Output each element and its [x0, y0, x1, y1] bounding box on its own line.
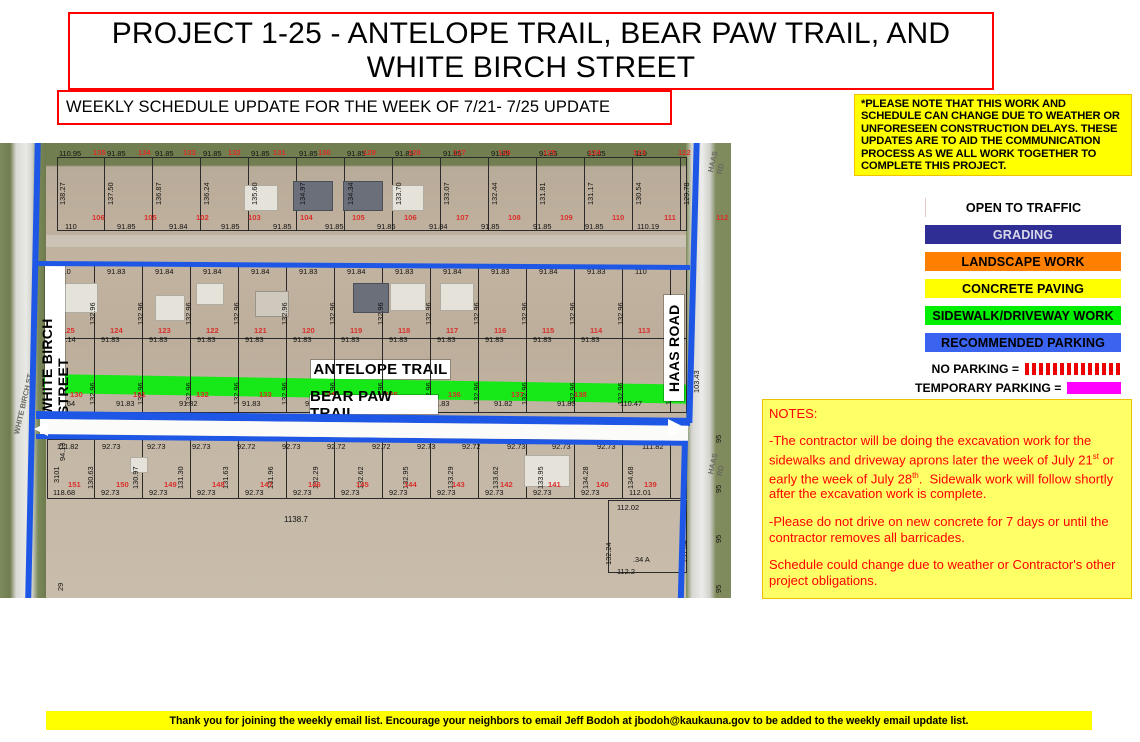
- lot-width-dimension: 91.83: [149, 335, 168, 344]
- lot-width-dimension: 92.72: [237, 442, 256, 451]
- east-tick-95-a: 95: [714, 435, 723, 443]
- lot-width-dimension: 92.73: [581, 488, 600, 497]
- lot-depth-dimension: 130.54: [634, 182, 643, 205]
- lot-width-dimension: 91.85: [481, 222, 500, 231]
- east-tick-95-d: 95: [714, 585, 723, 593]
- lot-depth-dimension: 132.96: [232, 302, 241, 325]
- lot-number: 102: [196, 213, 209, 222]
- outlot-area-label: .34 A: [633, 555, 650, 564]
- lot-number: 121: [254, 326, 267, 335]
- lot-depth-dimension: 132.96: [472, 382, 481, 405]
- legend-item-open-to-traffic: OPEN TO TRAFFIC: [925, 198, 1121, 217]
- legend-item-concrete-paving: CONCRETE PAVING: [925, 279, 1121, 298]
- lot-width-dimension: 91.83: [389, 335, 408, 344]
- legend-item-no-parking: NO PARKING =: [915, 360, 1121, 377]
- lot-depth-dimension: 133.95: [536, 466, 545, 489]
- lot-number: 126: [498, 148, 511, 157]
- lot-width-dimension: 110.19: [637, 222, 659, 231]
- lot-number: 116: [494, 326, 506, 335]
- project-title-text: PROJECT 1-25 - ANTELOPE TRAIL, BEAR PAW …: [112, 17, 951, 84]
- project-title-line2: WHITE BIRCH STREET: [367, 51, 696, 84]
- lot-number: 107: [456, 213, 469, 222]
- lot-number: 130: [70, 390, 83, 399]
- lot-depth-dimension: 134.68: [626, 466, 635, 489]
- lot-width-dimension: 91.85: [273, 222, 292, 231]
- lot-width-dimension: 91.85: [155, 149, 174, 158]
- legend-item-grading: GRADING: [925, 225, 1121, 244]
- lot-width-dimension: 92.72: [327, 442, 346, 451]
- legend-label-landscape-work: LANDSCAPE WORK: [961, 255, 1084, 269]
- lot-width-dimension: 91.85: [203, 149, 222, 158]
- lot-depth-dimension: 133.62: [491, 466, 500, 489]
- lot-number: 111: [664, 213, 676, 222]
- outlot-dim-top: 112.02: [617, 503, 639, 512]
- lot-width-dimension: 92.73: [282, 442, 301, 451]
- lot-width-dimension: 91.85: [585, 222, 604, 231]
- lot-number: 115: [542, 326, 554, 335]
- note-item-schedule: Schedule could change due to weather or …: [769, 557, 1123, 588]
- legend-item-sidewalk-driveway-work: SIDEWALK/DRIVEWAY WORK: [925, 306, 1121, 325]
- legend-item-recommended-parking: RECOMMENDED PARKING: [925, 333, 1121, 352]
- lot-width-dimension: 91.83: [107, 267, 126, 276]
- lot-width-dimension: 92.73: [245, 488, 264, 497]
- lot-depth-dimension: 132.96: [232, 382, 241, 405]
- lot-depth-dimension: 137.50: [106, 182, 115, 205]
- lot-number: 132: [196, 390, 209, 399]
- lot-width-dimension: 91.83: [437, 335, 456, 344]
- lot-width-dimension: 91.83: [245, 335, 264, 344]
- lot-number: 103: [248, 213, 261, 222]
- east-field-area: [716, 143, 731, 598]
- west-dim-3101: 3101: [52, 467, 61, 483]
- lot-depth-dimension: 130.97: [131, 466, 140, 489]
- lot-number: 117: [446, 326, 458, 335]
- plat-map[interactable]: 110.9591.8591.8591.8591.8591.8591.8591.8…: [0, 143, 731, 598]
- lot-width-dimension: 92.73: [147, 442, 166, 451]
- southwest-tick-29: 29: [56, 583, 65, 591]
- lot-number: 132: [228, 148, 241, 157]
- building-footprint: [524, 455, 570, 487]
- lot-width-dimension: 92.72: [372, 442, 391, 451]
- east-tick-95-c: 95: [714, 535, 723, 543]
- lot-number: 124: [110, 326, 123, 335]
- lot-depth-dimension: 136.24: [202, 182, 211, 205]
- lot-depth-dimension: 136.87: [154, 182, 163, 205]
- lot-width-dimension: 92.73: [485, 488, 504, 497]
- lot-number: 124: [588, 148, 601, 157]
- lot-depth-dimension: 132.96: [424, 302, 433, 325]
- street-label-white-birch-street: WHITE BIRCH STREET: [45, 263, 65, 415]
- lot-number: 138: [574, 390, 587, 399]
- weekly-schedule-subtitle-text: WEEKLY SCHEDULE UPDATE FOR THE WEEK OF 7…: [66, 98, 610, 117]
- legend-label-temporary-parking: TEMPORARY PARKING =: [915, 381, 1061, 395]
- building-footprint: [440, 283, 474, 311]
- outlot-dim-left: 132.24: [604, 542, 613, 565]
- legend-item-temporary-parking: TEMPORARY PARKING =: [915, 379, 1121, 396]
- footer-bar: Thank you for joining the weekly email l…: [46, 711, 1092, 730]
- lot-number: 123: [158, 326, 171, 335]
- lot-width-dimension: 91.83: [533, 335, 552, 344]
- lot-depth-dimension: 130.63: [86, 466, 95, 489]
- notes-title: NOTES:: [769, 406, 1123, 421]
- legend: OPEN TO TRAFFIC GRADING LANDSCAPE WORK C…: [925, 198, 1121, 398]
- lot-depth-dimension: 132.96: [184, 302, 193, 325]
- lot-width-dimension: 91.84: [169, 222, 188, 231]
- bear-paw-arrow-icon: [668, 419, 686, 437]
- legend-label-sidewalk-driveway-work: SIDEWALK/DRIVEWAY WORK: [932, 309, 1113, 323]
- lot-depth-dimension: 138.27: [58, 182, 67, 205]
- lot-width-dimension: 92.73: [102, 442, 121, 451]
- project-title-line1: PROJECT 1-25 - ANTELOPE TRAIL, BEAR PAW …: [112, 17, 951, 50]
- west-dim-94-13: 94.13: [58, 443, 67, 462]
- lot-width-dimension: 91.84: [347, 267, 366, 276]
- lot-width-dimension: 91.83: [101, 335, 120, 344]
- lot-width-dimension: 91.85: [117, 222, 136, 231]
- street-label-haas-road-text: HAAS ROAD: [666, 304, 682, 391]
- lot-width-dimension: 91.84: [429, 222, 448, 231]
- please-note-text: *PLEASE NOTE THAT THIS WORK AND SCHEDULE…: [861, 98, 1126, 172]
- building-footprint: [390, 283, 426, 311]
- lot-depth-dimension: 132.96: [280, 382, 289, 405]
- lot-number: 122: [206, 326, 219, 335]
- lot-depth-dimension: 132.96: [88, 302, 97, 325]
- lot-number: 113: [638, 326, 650, 335]
- lot-depth-dimension: 131.81: [538, 182, 547, 205]
- lot-depth-dimension: 134.28: [581, 466, 590, 489]
- lot-width-dimension: 110.47: [620, 399, 642, 408]
- lot-number: 106: [404, 213, 417, 222]
- lot-number: 136: [448, 390, 461, 399]
- lot-number: 127: [453, 148, 466, 157]
- lot-width-dimension: 91.82: [494, 399, 513, 408]
- lot-number: 133: [183, 148, 196, 157]
- street-label-bear-paw-trail: BEAR PAW TRAIL: [310, 395, 438, 414]
- long-dimension-label: 1138.7: [284, 515, 308, 524]
- lot-number: 120: [302, 326, 315, 335]
- lot-width-dimension: 91.85: [325, 222, 344, 231]
- temporary-parking-swatch: [1067, 382, 1121, 394]
- lot-width-dimension: 91.82: [179, 399, 198, 408]
- legend-label-recommended-parking: RECOMMENDED PARKING: [941, 336, 1105, 350]
- lot-width-dimension: 92.73: [293, 488, 312, 497]
- lot-number: 118: [398, 326, 410, 335]
- lot-number: 114: [590, 326, 602, 335]
- lot-width-dimension: 91.85: [533, 222, 552, 231]
- east-tick-95-b: 95: [714, 485, 723, 493]
- note-item-excavation: -The contractor will be doing the excava…: [769, 433, 1123, 502]
- lot-depth-dimension: 131.30: [176, 466, 185, 489]
- building-footprint: [196, 283, 224, 305]
- lot-width-dimension: 91.83: [197, 335, 216, 344]
- lot-number: 134: [138, 148, 151, 157]
- lot-depth-dimension: 132.96: [88, 382, 97, 405]
- lot-width-dimension: 92.73: [101, 488, 120, 497]
- lot-number: 137: [511, 390, 524, 399]
- lot-width-dimension: 91.84: [251, 267, 270, 276]
- notes-box: NOTES: -The contractor will be doing the…: [762, 399, 1132, 599]
- lot-width-dimension: 112.01: [629, 488, 651, 497]
- building-footprint: [155, 295, 185, 321]
- lot-width-dimension: 91.83: [581, 335, 600, 344]
- lot-depth-dimension: 132.96: [472, 302, 481, 325]
- lot-width-dimension: 91.85: [251, 149, 270, 158]
- legend-label-no-parking: NO PARKING =: [932, 362, 1019, 376]
- lot-width-dimension: 91.84: [203, 267, 222, 276]
- lot-number: 119: [350, 326, 362, 335]
- project-title-box: PROJECT 1-25 - ANTELOPE TRAIL, BEAR PAW …: [68, 12, 994, 90]
- lot-width-dimension: 110: [65, 222, 77, 231]
- lot-number: 125: [543, 148, 556, 157]
- lot-number: 104: [300, 213, 313, 222]
- lot-width-dimension: 91.83: [242, 399, 261, 408]
- lot-depth-dimension: 132.96: [568, 302, 577, 325]
- no-parking-hatch-swatch: [1025, 363, 1121, 375]
- lot-width-dimension: 91.85: [299, 149, 318, 158]
- lot-number: 110: [612, 213, 624, 222]
- lot-number: 108: [508, 213, 521, 222]
- lot-depth-dimension: 132.96: [376, 302, 385, 325]
- lot-number: 106: [92, 213, 105, 222]
- lot-number: 130: [318, 148, 331, 157]
- lot-depth-dimension: 135.60: [250, 182, 259, 205]
- footer-text: Thank you for joining the weekly email l…: [170, 715, 969, 727]
- antelope-trail-pavement: [46, 235, 686, 247]
- lot-width-dimension: 92.73: [389, 488, 408, 497]
- weekly-schedule-subtitle-box: WEEKLY SCHEDULE UPDATE FOR THE WEEK OF 7…: [57, 90, 672, 125]
- lot-width-dimension: 91.85: [221, 222, 240, 231]
- bear-paw-arrow-icon-west: [34, 422, 48, 436]
- note-item-concrete: -Please do not drive on new concrete for…: [769, 514, 1123, 545]
- lot-width-dimension: 110.95: [59, 149, 81, 158]
- legend-label-open-to-traffic: OPEN TO TRAFFIC: [966, 201, 1081, 215]
- lot-depth-dimension: 132.96: [520, 302, 529, 325]
- lot-width-dimension: 91.83: [557, 399, 576, 408]
- lot-depth-dimension: 129.78: [682, 182, 691, 205]
- lot-width-dimension: 92.73: [341, 488, 360, 497]
- lot-width-dimension: 91.83: [299, 267, 318, 276]
- lot-depth-dimension: 132.96: [328, 302, 337, 325]
- lot-number: 105: [352, 213, 365, 222]
- lot-number: 131: [133, 390, 146, 399]
- lot-width-dimension: 92.73: [437, 488, 456, 497]
- lot-width-dimension: 91.84: [155, 267, 174, 276]
- lot-width-dimension: 92.73: [417, 442, 436, 451]
- lot-number: 122: [678, 148, 691, 157]
- lot-width-dimension: 91.85: [377, 222, 396, 231]
- outlot-dim-bottom: 112.2: [617, 567, 635, 576]
- lot-depth-dimension: 132.44: [490, 182, 499, 205]
- lot-width-dimension: 91.83: [293, 335, 312, 344]
- lot-width-dimension: 91.83: [485, 335, 504, 344]
- street-label-white-birch-street-text: WHITE BIRCH STREET: [39, 263, 71, 415]
- lot-depth-dimension: 134.34: [346, 182, 355, 205]
- lot-number: 112: [716, 213, 728, 222]
- lot-number: 135: [93, 148, 106, 157]
- legend-label-grading: GRADING: [993, 228, 1053, 242]
- legend-parking-group: NO PARKING = TEMPORARY PARKING =: [925, 360, 1121, 396]
- lot-width-dimension: 91.85: [107, 149, 126, 158]
- lot-depth-dimension: 133.07: [442, 182, 451, 205]
- please-note-box: *PLEASE NOTE THAT THIS WORK AND SCHEDULE…: [854, 94, 1132, 176]
- lot-number: 105: [144, 213, 157, 222]
- lot-number: 129: [363, 148, 376, 157]
- lot-width-dimension: 92.73: [197, 488, 216, 497]
- lot-width-dimension: 92.73: [533, 488, 552, 497]
- lot-depth-dimension: 132.96: [280, 302, 289, 325]
- street-label-haas-road: HAAS ROAD: [664, 295, 684, 401]
- lot-width-dimension: 91.83: [341, 335, 360, 344]
- lot-depth-dimension: 132.96: [616, 302, 625, 325]
- lot-number: 133: [259, 390, 272, 399]
- lot-width-dimension: 91.83: [116, 399, 135, 408]
- lot-number: 128: [408, 148, 421, 157]
- legend-item-landscape-work: LANDSCAPE WORK: [925, 252, 1121, 271]
- lot-number: 109: [560, 213, 573, 222]
- legend-label-concrete-paving: CONCRETE PAVING: [962, 282, 1084, 296]
- lot-depth-dimension: 134.97: [298, 182, 307, 205]
- lot-number: 131: [273, 148, 286, 157]
- lot-number: 123: [633, 148, 646, 157]
- lot-width-dimension: 92.73: [192, 442, 211, 451]
- lot-depth-dimension: 132.96: [136, 302, 145, 325]
- lot-depth-dimension: 133.70: [394, 182, 403, 205]
- lot-width-dimension: 118.68: [53, 488, 75, 497]
- lot-depth-dimension: 131.17: [586, 182, 595, 205]
- lot-width-dimension: 92.73: [149, 488, 168, 497]
- lot-width-dimension: 91.83: [395, 267, 414, 276]
